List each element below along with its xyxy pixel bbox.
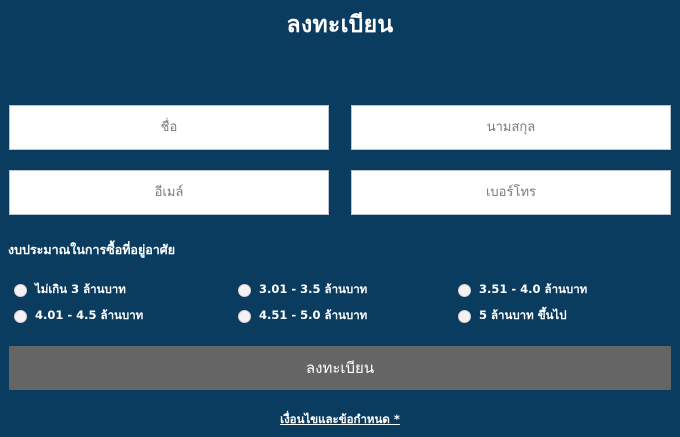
budget-option-label: 4.51 - 5.0 ล้านบาท — [259, 307, 367, 325]
terms-and-conditions-link[interactable]: เงื่อนไขและข้อกำหนด * — [280, 412, 400, 426]
budget-option-3[interactable]: 3.51 - 4.0 ล้านบาท — [458, 281, 674, 299]
registration-form — [9, 105, 671, 215]
page-title: ลงทะเบียน — [0, 10, 680, 40]
budget-option-2[interactable]: 3.01 - 3.5 ล้านบาท — [238, 281, 458, 299]
budget-option-6[interactable]: 5 ล้านบาท ขึ้นไป — [458, 307, 674, 325]
first-name-input[interactable] — [10, 105, 328, 150]
budget-option-label: ไม่เกิน 3 ล้านบาท — [35, 281, 126, 299]
budget-option-label: 3.51 - 4.0 ล้านบาท — [479, 281, 587, 299]
budget-section-label: งบประมาณในการซื้อที่อยู่อาศัย — [8, 241, 175, 259]
radio-icon[interactable] — [458, 284, 471, 297]
radio-icon[interactable] — [14, 284, 27, 297]
last-name-field[interactable] — [351, 105, 671, 150]
budget-options-group: ไม่เกิน 3 ล้านบาท 3.01 - 3.5 ล้านบาท 3.5… — [14, 277, 674, 329]
email-field[interactable] — [9, 170, 329, 215]
registration-page: ลงทะเบียน งบประมาณในการซื้อที่อยู่อาศัย … — [0, 0, 680, 437]
radio-icon[interactable] — [14, 310, 27, 323]
email-input[interactable] — [10, 170, 328, 215]
budget-option-label: 3.01 - 3.5 ล้านบาท — [259, 281, 367, 299]
radio-icon[interactable] — [238, 284, 251, 297]
phone-field[interactable] — [351, 170, 671, 215]
budget-option-1[interactable]: ไม่เกิน 3 ล้านบาท — [14, 281, 238, 299]
budget-option-label: 4.01 - 4.5 ล้านบาท — [35, 307, 143, 325]
footer: เงื่อนไขและข้อกำหนด * — [0, 408, 680, 429]
budget-option-label: 5 ล้านบาท ขึ้นไป — [479, 307, 567, 325]
last-name-input[interactable] — [352, 105, 670, 150]
first-name-field[interactable] — [9, 105, 329, 150]
register-submit-button[interactable]: ลงทะเบียน — [9, 346, 671, 390]
budget-option-4[interactable]: 4.01 - 4.5 ล้านบาท — [14, 307, 238, 325]
budget-option-5[interactable]: 4.51 - 5.0 ล้านบาท — [238, 307, 458, 325]
radio-icon[interactable] — [238, 310, 251, 323]
phone-input[interactable] — [352, 170, 670, 215]
radio-icon[interactable] — [458, 310, 471, 323]
